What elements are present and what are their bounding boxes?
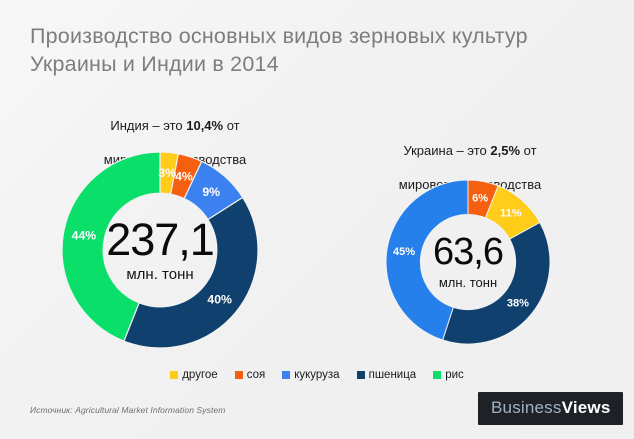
legend-label: другое (182, 369, 217, 381)
donut-ukraine-slices (386, 180, 550, 344)
donut-india-slices (62, 152, 258, 348)
donut-slice-label-other: 11% (500, 207, 522, 219)
infographic-canvas: Производство основных видов зерновых кул… (0, 0, 634, 439)
donut-slice-label-corn: 9% (202, 185, 220, 199)
legend-label: кукуруза (294, 369, 339, 381)
chart-heading-india-suffix: от (223, 118, 240, 133)
legend-swatch-icon (357, 371, 365, 379)
legend-item-0[interactable]: другое (170, 369, 217, 381)
chart-legend: другоесоякукурузапшеницарис (0, 369, 634, 381)
logo-text-views: Views (562, 398, 611, 418)
legend-label: пшеница (369, 369, 417, 381)
donut-chart-ukraine[interactable]: 6%11%38%45% (386, 180, 550, 344)
businessviews-logo[interactable]: BusinessViews (478, 392, 623, 425)
chart-heading-india-value: 10,4% (186, 118, 223, 133)
legend-item-2[interactable]: кукуруза (282, 369, 339, 381)
legend-label: рис (445, 369, 464, 381)
page-title: Производство основных видов зерновых кул… (30, 22, 610, 78)
legend-label: соя (247, 369, 266, 381)
donut-slice-label-rice: 44% (72, 228, 97, 242)
legend-item-1[interactable]: соя (235, 369, 266, 381)
donut-slice-label-wheat: 40% (207, 292, 232, 306)
donut-slice-label-wheat: 38% (507, 297, 529, 309)
legend-swatch-icon (433, 371, 441, 379)
donut-slice-wheat[interactable] (124, 197, 258, 348)
source-note: Источник: Agricultural Market Informatio… (30, 405, 225, 415)
logo-text-business: Business (491, 398, 562, 418)
legend-item-4[interactable]: рис (433, 369, 464, 381)
chart-heading-ukraine-value: 2,5% (490, 143, 520, 158)
donut-slice-label-corn: 45% (393, 246, 415, 258)
donut-chart-india-svg: 3%4%9%40%44% (62, 152, 258, 348)
donut-slice-label-other: 3% (158, 166, 176, 180)
chart-heading-ukraine-prefix: Украина – это (403, 143, 490, 158)
donut-slice-label-soy: 4% (175, 169, 193, 183)
donut-chart-india[interactable]: 3%4%9%40%44% (62, 152, 258, 348)
chart-heading-india-prefix: Индия – это (110, 118, 186, 133)
donut-slice-label-soy: 6% (472, 192, 488, 204)
legend-item-3[interactable]: пшеница (357, 369, 417, 381)
legend-swatch-icon (170, 371, 178, 379)
chart-heading-ukraine-suffix: от (520, 143, 537, 158)
legend-swatch-icon (235, 371, 243, 379)
legend-swatch-icon (282, 371, 290, 379)
donut-chart-ukraine-svg: 6%11%38%45% (386, 180, 550, 344)
donut-slice-wheat[interactable] (443, 222, 550, 344)
